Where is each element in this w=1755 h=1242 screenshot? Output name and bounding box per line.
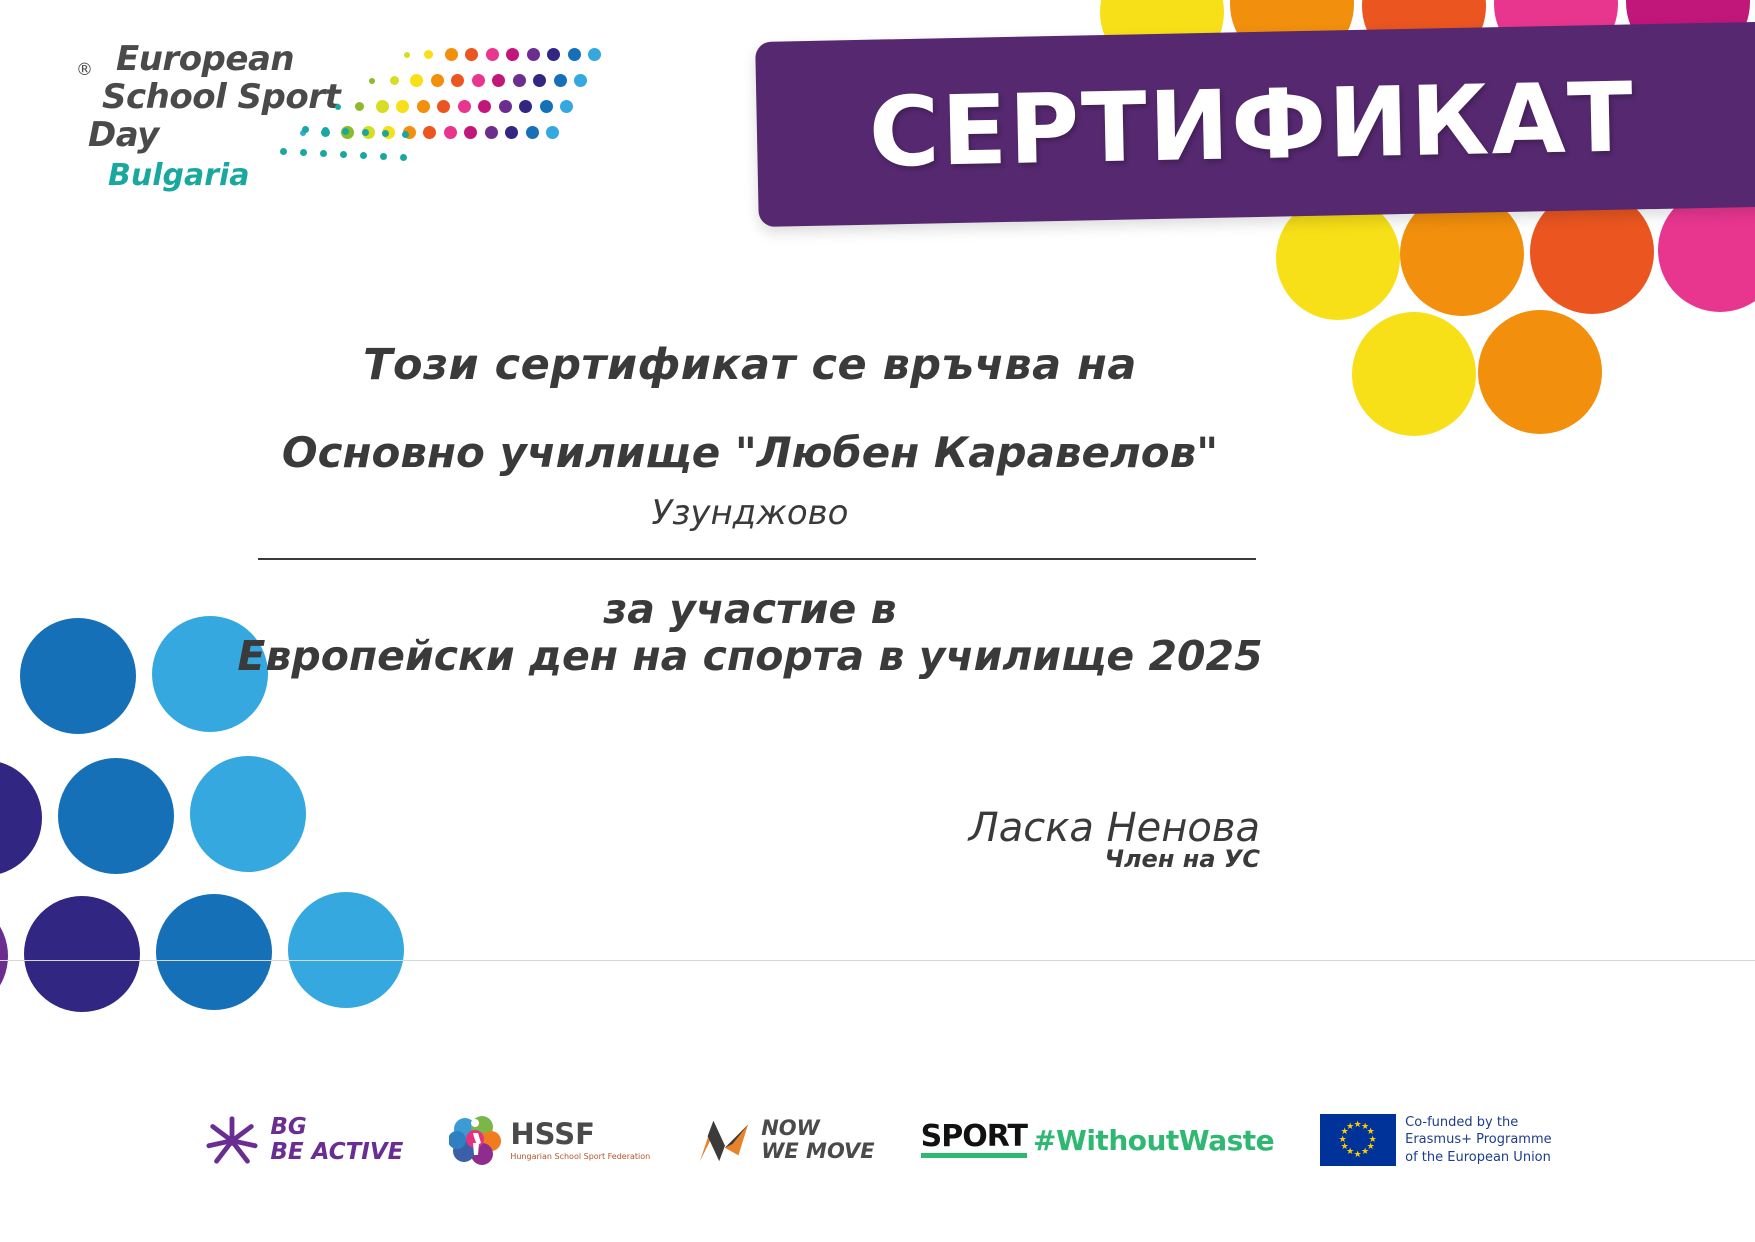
logo-halftone-dot [390, 76, 399, 85]
logo-halftone-dot [546, 126, 559, 139]
banner-title: СЕРТИФИКАТ [755, 22, 1755, 227]
logo-dot-pattern [310, 48, 600, 178]
intro-text: Този сертификат се връчва на [0, 340, 1500, 390]
signatory-role: Член на УС [700, 845, 1260, 873]
decorative-dot [0, 898, 8, 1014]
logo-halftone-dot [380, 153, 387, 160]
logo-halftone-dot [465, 48, 478, 61]
decorative-dot [190, 756, 306, 872]
logo-halftone-dot [547, 48, 560, 61]
logo-halftone-dot [506, 48, 519, 61]
logo-hssf: HSSF Hungarian School Sport Federation [449, 1109, 650, 1171]
logo-halftone-dot [360, 152, 367, 159]
eu-star-icon: ★ [1361, 1148, 1369, 1157]
logo-halftone-dot [320, 150, 327, 157]
logo-halftone-dot [458, 100, 471, 113]
now-we-move-wordmark: NOW WE MOVE [761, 1117, 874, 1162]
logo-halftone-dot [526, 126, 539, 139]
erasmus-line3: of the European Union [1405, 1149, 1552, 1166]
logo-halftone-dot [362, 129, 369, 136]
bg-be-active-line1: BG [270, 1115, 403, 1140]
essd-logo: ® European School Sport Day Bulgaria [62, 40, 562, 215]
logo-halftone-dot [444, 126, 457, 139]
bg-be-active-star-icon [203, 1113, 261, 1167]
eu-star-icon: ★ [1354, 1151, 1362, 1160]
logo-halftone-dot [486, 48, 499, 61]
sport-wordmark: SPORT [921, 1122, 1027, 1158]
logo-halftone-dot [533, 74, 546, 87]
logo-halftone-dot [451, 74, 464, 87]
recipient-name: Основно училище "Любен Каравелов" [0, 428, 1500, 477]
bg-be-active-line2: BE ACTIVE [270, 1140, 403, 1165]
logo-halftone-dot [410, 74, 423, 87]
logo-halftone-dot [402, 131, 409, 138]
certificate-canvas: ® European School Sport Day Bulgaria СЕР… [0, 0, 1755, 1242]
logo-halftone-dot [396, 100, 409, 113]
hssf-wordmark: HSSF Hungarian School Sport Federation [510, 1120, 650, 1161]
without-waste-hashtag: #WithoutWaste [1033, 1124, 1274, 1157]
decorative-dot [0, 760, 42, 876]
logo-halftone-dot [554, 74, 567, 87]
logo-halftone-dot [355, 102, 364, 111]
logo-halftone-dot [519, 100, 532, 113]
hssf-abbr: HSSF [510, 1120, 650, 1149]
now-we-move-line1: NOW [761, 1117, 874, 1140]
logo-halftone-dot [369, 78, 375, 84]
logo-halftone-dot [540, 100, 553, 113]
logo-halftone-dot [560, 100, 573, 113]
logo-halftone-dot [505, 126, 518, 139]
hssf-subtitle: Hungarian School Sport Federation [510, 1152, 650, 1161]
logo-halftone-dot [464, 126, 477, 139]
erasmus-line1: Co-funded by the [1405, 1114, 1552, 1131]
eu-flag-icon: ★★★★★★★★★★★★ [1320, 1114, 1396, 1166]
logo-halftone-dot [588, 48, 601, 61]
logo-halftone-dot [568, 48, 581, 61]
logo-now-we-move: NOW WE MOVE [696, 1109, 874, 1171]
logo-halftone-dot [300, 149, 307, 156]
eu-star-icon: ★ [1346, 1123, 1354, 1132]
hssf-flower-icon [449, 1115, 501, 1165]
section-divider [258, 558, 1256, 560]
decorative-dot [58, 758, 174, 874]
footer-divider [0, 960, 1755, 961]
certificate-banner: СЕРТИФИКАТ [757, 42, 1755, 227]
logo-halftone-dot [404, 52, 410, 58]
logo-halftone-dot [400, 154, 407, 161]
logo-halftone-dot [342, 128, 349, 135]
logo-halftone-dot [492, 74, 505, 87]
logo-halftone-dot [472, 74, 485, 87]
event-name: Европейски ден на спорта в училище 2025 [0, 632, 1500, 680]
logo-halftone-dot [478, 100, 491, 113]
logo-sport-without-waste: SPORT #WithoutWaste [921, 1109, 1274, 1171]
logo-halftone-dot [499, 100, 512, 113]
logo-erasmus-eu: ★★★★★★★★★★★★ Co-funded by the Erasmus+ P… [1320, 1109, 1552, 1171]
erasmus-line2: Erasmus+ Programme [1405, 1131, 1552, 1148]
logo-bg-be-active: BG BE ACTIVE [203, 1109, 403, 1171]
bg-be-active-wordmark: BG BE ACTIVE [270, 1115, 403, 1165]
participation-label: за участие в [0, 585, 1500, 633]
logo-halftone-dot [376, 100, 389, 113]
logo-halftone-dot [431, 74, 444, 87]
logo-halftone-dot [513, 74, 526, 87]
logo-halftone-dot [445, 48, 458, 61]
logo-halftone-dot [437, 100, 450, 113]
now-we-move-arrow-icon [696, 1115, 752, 1165]
logo-halftone-dot [340, 151, 347, 158]
logo-halftone-dot [574, 74, 587, 87]
logo-halftone-dot [322, 127, 329, 134]
logo-halftone-dot [302, 126, 309, 133]
recipient-place: Узунджово [0, 493, 1500, 533]
footer-logo-strip: BG BE ACTIVE HSSF Hungarian School Sport… [0, 1090, 1755, 1190]
logo-halftone-dot [417, 100, 430, 113]
erasmus-funding-text: Co-funded by the Erasmus+ Programme of t… [1405, 1114, 1552, 1165]
decorative-dot [24, 896, 140, 1012]
logo-halftone-dot [424, 50, 433, 59]
logo-halftone-dot [485, 126, 498, 139]
decorative-dot [156, 894, 272, 1010]
logo-halftone-dot [280, 148, 287, 155]
logo-halftone-dot [527, 48, 540, 61]
decorative-dot [288, 892, 404, 1008]
logo-halftone-dot [335, 104, 341, 110]
now-we-move-line2: WE MOVE [761, 1140, 874, 1163]
logo-halftone-dot [423, 126, 436, 139]
logo-halftone-dot [382, 130, 389, 137]
